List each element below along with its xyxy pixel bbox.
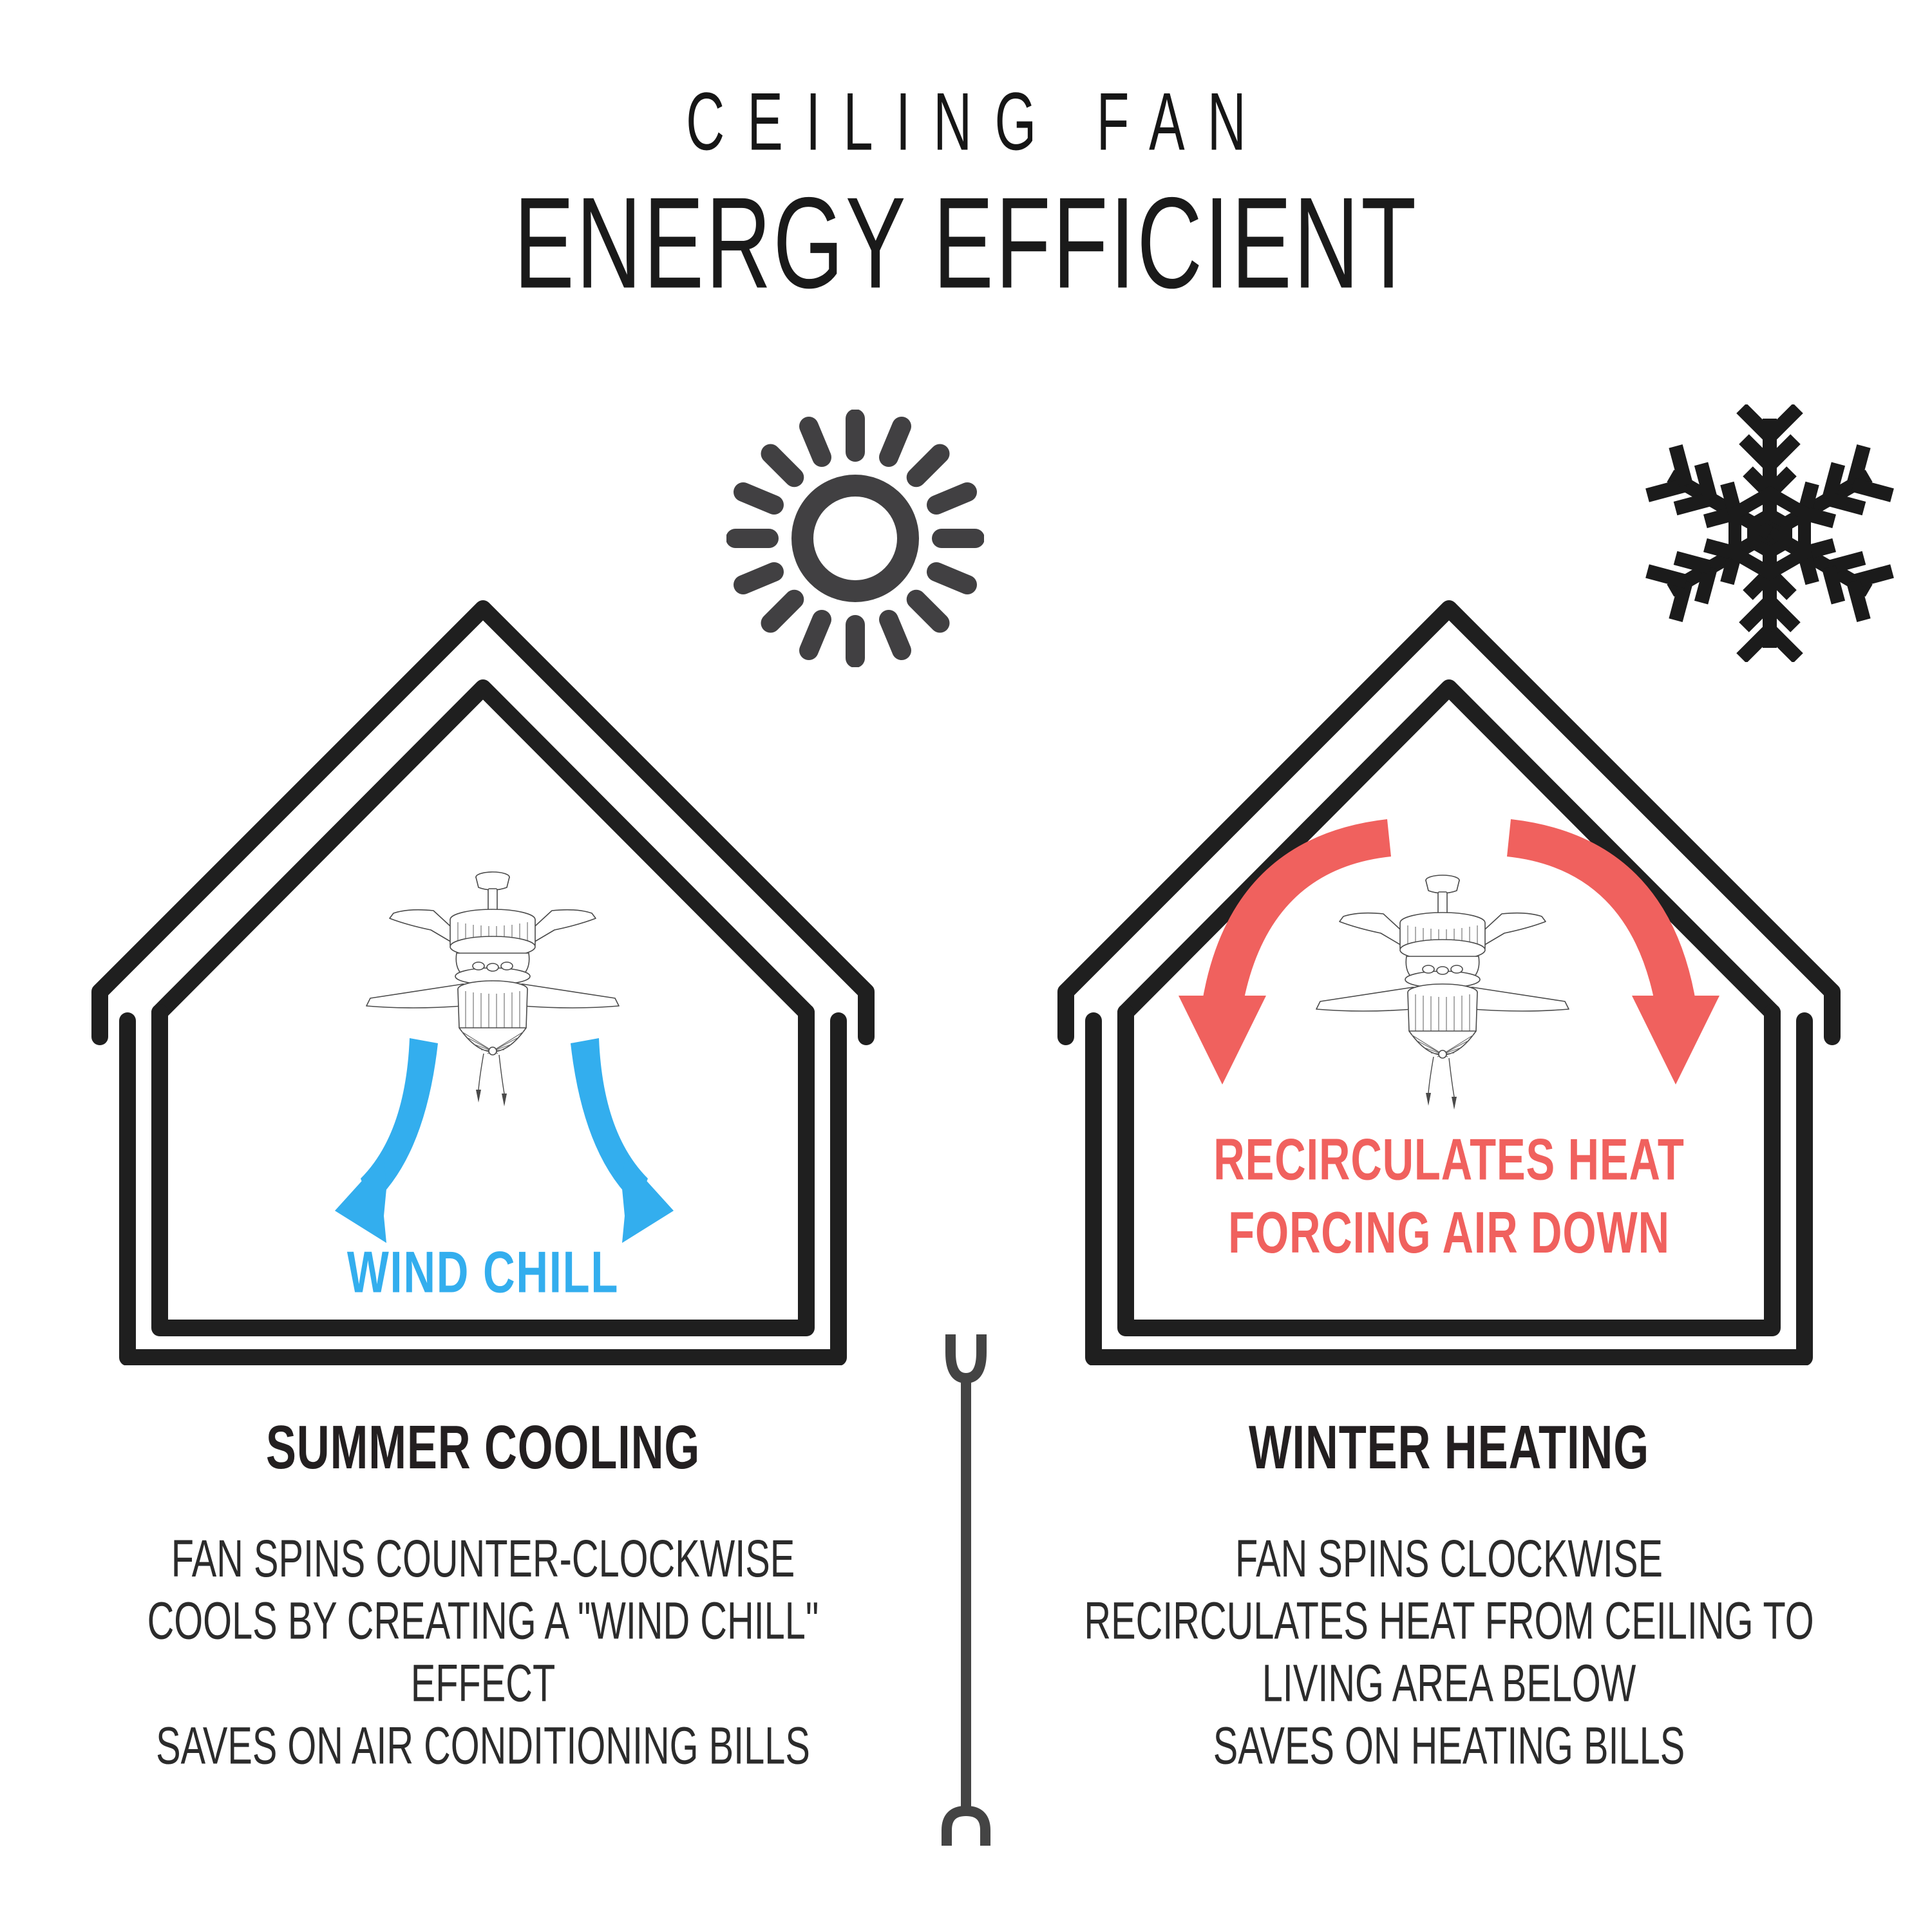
caption-line: COOLS BY CREATING A "WIND CHILL" xyxy=(106,1590,860,1653)
caption-line: FAN SPINS CLOCKWISE xyxy=(1072,1528,1826,1590)
house-outline-summer xyxy=(0,0,966,1365)
panel-summer-cooling: WIND CHILL SUMMER COOLING FAN SPINS COUN… xyxy=(0,0,966,1932)
center-divider xyxy=(927,1327,1005,1855)
caption-heading-winter: WINTER HEATING xyxy=(1043,1412,1855,1483)
callout-line: RECIRCULATES HEAT xyxy=(1034,1130,1864,1188)
ceiling-fan-illustration-winter xyxy=(1243,866,1642,1111)
caption-line: SAVES ON HEATING BILLS xyxy=(1072,1715,1826,1777)
divider-bottom-arch xyxy=(947,1811,985,1846)
caption-line: LIVING AREA BELOW xyxy=(1072,1653,1826,1715)
callout-line: FORCING AIR DOWN xyxy=(1034,1204,1864,1262)
caption-line: RECIRCULATES HEAT FROM CEILING TO xyxy=(1072,1590,1826,1653)
caption-line: FAN SPINS COUNTER-CLOCKWISE xyxy=(106,1528,860,1590)
caption-line: SAVES ON AIR CONDITIONING BILLS xyxy=(106,1715,860,1777)
ceiling-fan-illustration-summer xyxy=(293,863,692,1108)
callout-recirculates-heat: RECIRCULATES HEAT FORCING AIR DOWN xyxy=(1034,1130,1864,1276)
infographic-root: CEILING FAN ENERGY EFFICIENT xyxy=(0,0,1932,1932)
panel-winter-heating: RECIRCULATES HEAT FORCING AIR DOWN WINTE… xyxy=(966,0,1932,1932)
caption-heading-summer: SUMMER COOLING xyxy=(77,1412,889,1483)
callout-wind-chill: WIND CHILL xyxy=(68,1243,898,1302)
divider-top-cup xyxy=(951,1334,981,1378)
caption-line: EFFECT xyxy=(106,1653,860,1715)
caption-body-winter: FAN SPINS CLOCKWISE RECIRCULATES HEAT FR… xyxy=(1072,1528,1826,1777)
caption-body-summer: FAN SPINS COUNTER-CLOCKWISE COOLS BY CRE… xyxy=(106,1528,860,1777)
